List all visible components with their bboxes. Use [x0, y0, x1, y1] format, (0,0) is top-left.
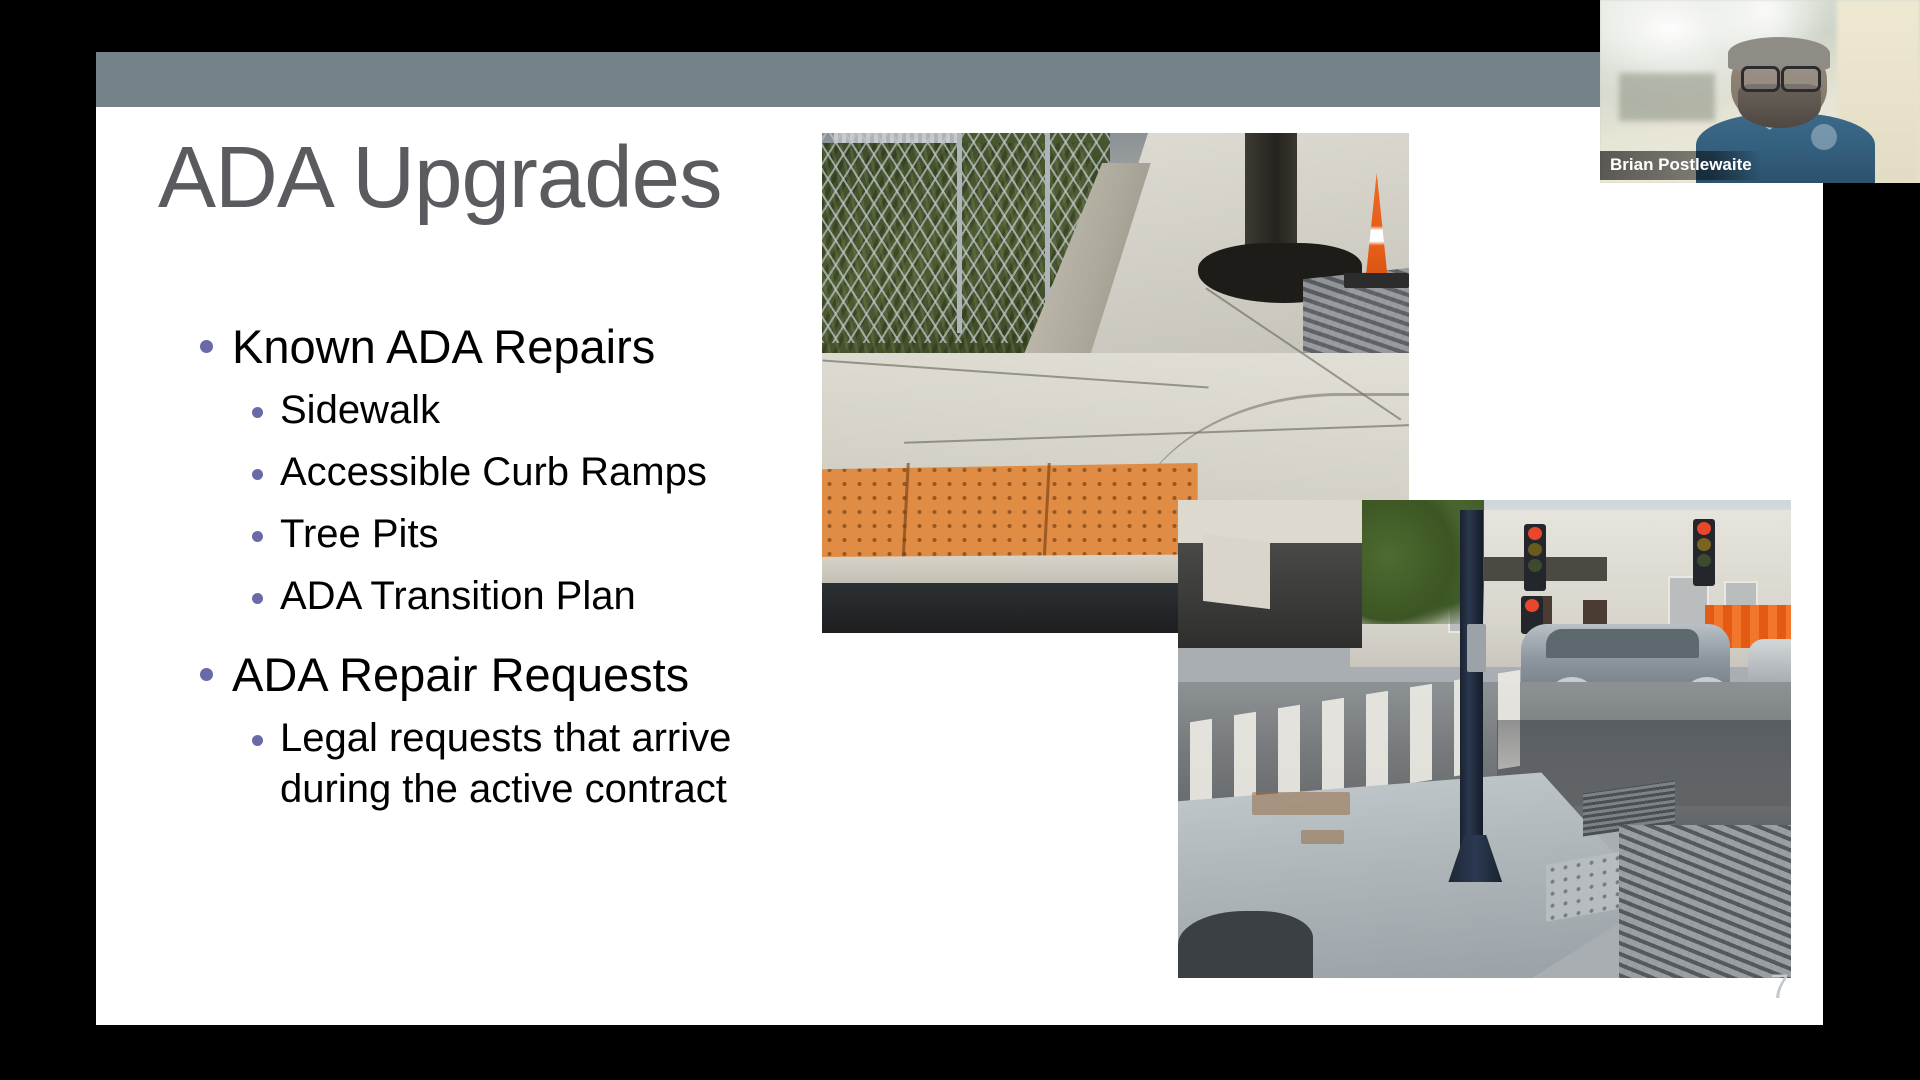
intersection-crosswalk-photo [1178, 500, 1791, 978]
bullet-item: Accessible Curb Ramps [96, 447, 896, 498]
participant-hair [1728, 37, 1830, 70]
bullet-item: ADA Repair Requests [96, 645, 896, 704]
slide-page-number: 7 [1770, 968, 1789, 1007]
video-background-panel [1619, 73, 1715, 121]
bullet-text: Accessible Curb Ramps [280, 447, 707, 498]
bullet-dot-icon [252, 593, 263, 604]
bullet-dot-icon [252, 735, 263, 746]
bullet-text: ADA Transition Plan [280, 571, 636, 622]
bullet-item: Tree Pits [96, 509, 896, 560]
bullet-item: Legal requests that arrive during the ac… [96, 713, 896, 815]
bullet-item: Known ADA Repairs [96, 317, 896, 376]
video-conference-screen: ADA Upgrades Known ADA Repairs Sidewalk … [0, 0, 1920, 1080]
bullet-dot-icon [200, 668, 213, 681]
bullet-dot-icon [252, 407, 263, 418]
bullet-item: Sidewalk [96, 385, 896, 436]
participant-video-tile[interactable]: Brian Postlewaite [1600, 0, 1920, 183]
participant-name-label: Brian Postlewaite [1600, 151, 1762, 180]
bullet-dot-icon [252, 469, 263, 480]
glasses-icon [1741, 66, 1821, 86]
presentation-slide: ADA Upgrades Known ADA Repairs Sidewalk … [96, 52, 1823, 1025]
slide-bullet-list: Known ADA Repairs Sidewalk Accessible Cu… [96, 317, 896, 826]
slide-top-banner [96, 52, 1823, 107]
bullet-text: Known ADA Repairs [232, 317, 655, 376]
bullet-text: ADA Repair Requests [232, 645, 689, 704]
bullet-dot-icon [252, 531, 263, 542]
bullet-dot-icon [200, 340, 213, 353]
bullet-text: Legal requests that arrive during the ac… [280, 713, 750, 815]
bullet-text: Tree Pits [280, 509, 439, 560]
bullet-text: Sidewalk [280, 385, 440, 436]
slide-title: ADA Upgrades [158, 134, 721, 221]
bullet-item: ADA Transition Plan [96, 571, 896, 622]
